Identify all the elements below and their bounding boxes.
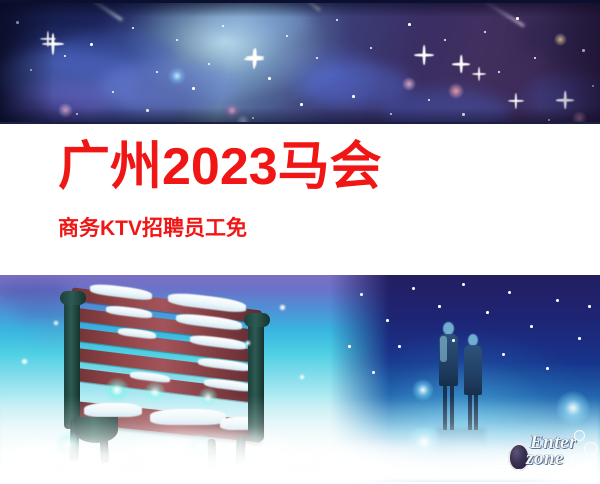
banner-vignette — [0, 3, 600, 122]
figure-leg — [450, 384, 454, 430]
bench-arm-scroll-right — [244, 313, 270, 327]
title-text-block: 广州2023马会 商务KTV招聘员工免 — [0, 124, 600, 275]
bench-ironwork — [74, 417, 118, 443]
figure-leg — [474, 393, 478, 430]
snow-cap — [84, 403, 142, 417]
couple-silhouette — [430, 320, 498, 430]
bench-arm-scroll-left — [60, 291, 86, 305]
bench-arm-left — [64, 293, 80, 429]
bench-backrest — [72, 285, 262, 420]
point-star — [22, 359, 27, 364]
figure-body — [464, 345, 482, 395]
poster-page: 广州2023马会 商务KTV招聘员工免 — [0, 0, 600, 484]
couple-reflection — [436, 428, 486, 448]
figure-leg — [468, 393, 472, 430]
bench-arm-right — [248, 315, 264, 441]
page-subtitle: 商务KTV招聘员工免 — [58, 218, 247, 239]
bench-leg-right — [235, 435, 246, 469]
bench-leg-right-rear — [207, 439, 216, 469]
figure-right — [462, 334, 486, 430]
point-star — [300, 375, 304, 379]
park-bench — [58, 293, 273, 463]
figure-scarf — [440, 336, 447, 362]
bottom-banner-image: Enter zone — [0, 275, 600, 484]
point-star — [280, 305, 285, 310]
page-title: 广州2023马会 — [58, 141, 382, 193]
figure-left — [436, 322, 462, 430]
top-banner-image — [0, 0, 600, 124]
figure-leg — [443, 384, 447, 430]
snow-cap — [150, 409, 226, 425]
